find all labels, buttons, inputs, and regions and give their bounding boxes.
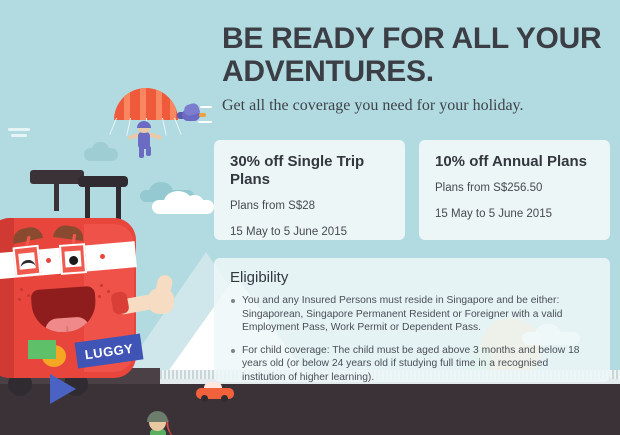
offer-price: Plans from S$28 bbox=[230, 200, 389, 212]
suitcase-shadow bbox=[0, 218, 14, 378]
page-title: BE READY FOR ALL YOUR ADVENTURES. bbox=[222, 22, 612, 88]
promo-banner: LUGGY BE READY FOR ALL YOUR ADVENTURES. … bbox=[0, 0, 620, 435]
car-icon bbox=[196, 382, 234, 400]
eligibility-list: You and any Insured Persons must reside … bbox=[230, 294, 594, 384]
offer-title: 10% off Annual Plans bbox=[435, 153, 594, 171]
strap-dot-2 bbox=[46, 258, 51, 263]
car-wheel-rear bbox=[221, 395, 228, 402]
child-hair bbox=[147, 411, 168, 422]
page-subtitle: Get all the coverage you need for your h… bbox=[222, 96, 612, 116]
car-wheel-front bbox=[201, 395, 208, 402]
freckle-6 bbox=[98, 295, 101, 298]
sticker-triangle-blue bbox=[50, 374, 76, 404]
wind-lines-icon bbox=[8, 128, 30, 142]
luggage-tag-left-eye bbox=[13, 245, 42, 278]
bird-speed-line-top bbox=[200, 106, 212, 108]
freckle-5 bbox=[107, 290, 110, 293]
pilot-helmet bbox=[137, 121, 151, 128]
list-item: For child coverage: The child must be ag… bbox=[230, 344, 594, 385]
luggy-mascot: LUGGY bbox=[0, 176, 168, 401]
strap-dot-3 bbox=[100, 254, 105, 259]
bird-beak bbox=[199, 113, 206, 117]
child-illustration bbox=[143, 408, 183, 435]
bird-icon bbox=[176, 104, 210, 126]
sticker-square-green bbox=[28, 340, 56, 359]
offer-title: 30% off Single Trip Plans bbox=[230, 153, 389, 189]
eligibility-panel: Eligibility You and any Insured Persons … bbox=[214, 258, 610, 382]
freckle-3 bbox=[18, 298, 21, 301]
offer-card-single-trip[interactable]: 30% off Single Trip Plans Plans from S$2… bbox=[214, 140, 405, 240]
offer-card-annual[interactable]: 10% off Annual Plans Plans from S$256.50… bbox=[419, 140, 610, 240]
offer-date: 15 May to 5 June 2015 bbox=[435, 208, 594, 220]
offer-card-list: 30% off Single Trip Plans Plans from S$2… bbox=[214, 140, 610, 240]
pilot-leg-left bbox=[139, 146, 144, 158]
luggage-tag-right-eye bbox=[59, 243, 87, 275]
freckle-2 bbox=[27, 294, 30, 297]
bird-speed-line-bottom bbox=[198, 121, 212, 123]
offer-date: 15 May to 5 June 2015 bbox=[230, 226, 389, 238]
luggy-name-label: LUGGY bbox=[84, 340, 134, 362]
paraglider-illustration bbox=[108, 88, 186, 154]
suitcase-handle-bar bbox=[78, 176, 128, 187]
offer-price: Plans from S$256.50 bbox=[435, 182, 594, 194]
parachute-canopy-icon bbox=[114, 88, 178, 120]
freckle-4 bbox=[100, 284, 103, 287]
eligibility-title: Eligibility bbox=[230, 268, 594, 288]
freckle-1 bbox=[20, 288, 23, 291]
list-item: You and any Insured Persons must reside … bbox=[230, 294, 594, 335]
pilot-leg-right bbox=[146, 146, 151, 156]
